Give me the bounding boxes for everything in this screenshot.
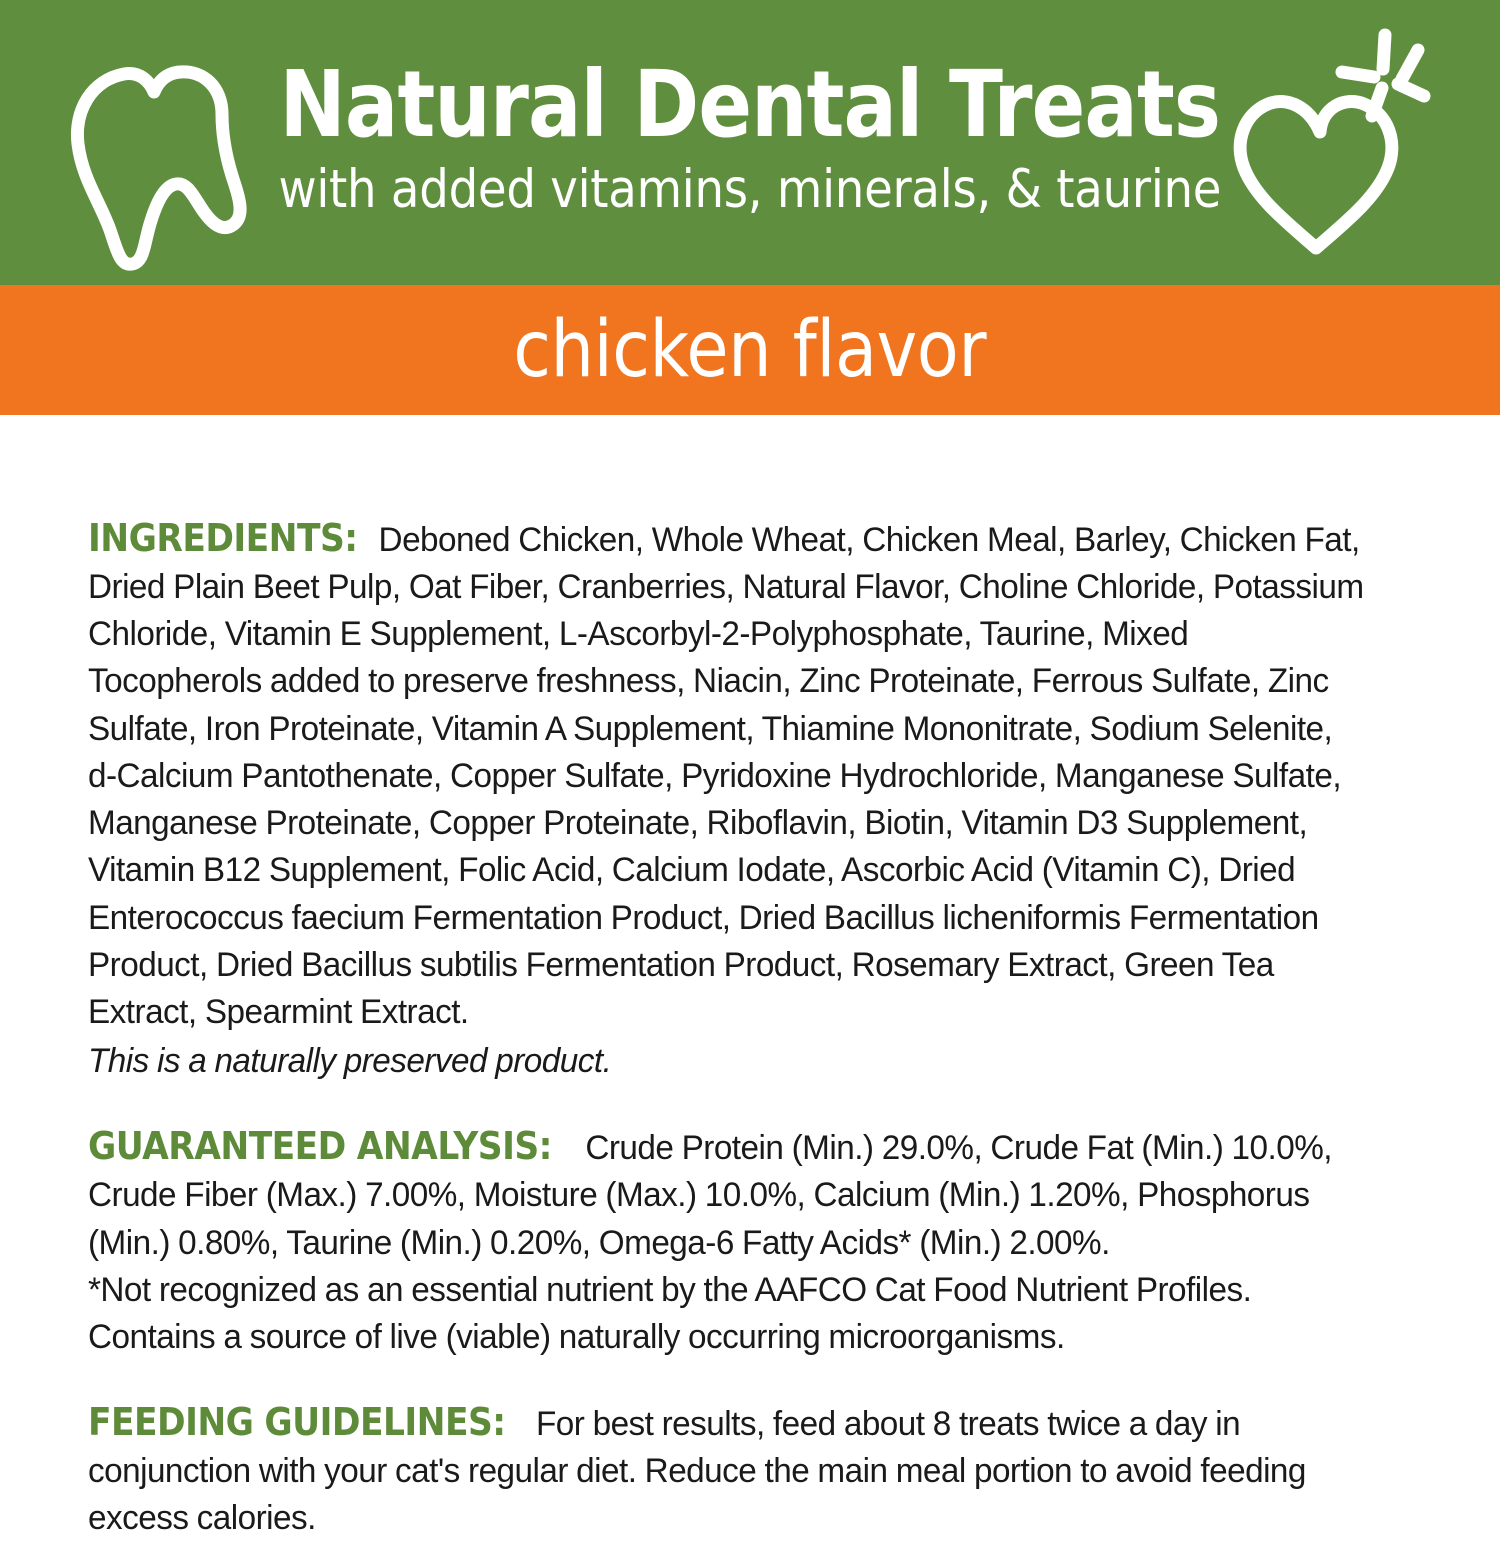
ingredients-paragraph: INGREDIENTS:Deboned Chicken, Whole Wheat…	[88, 512, 1366, 1086]
header-band: Natural Dental Treats with added vitamin…	[0, 0, 1500, 285]
label-content: INGREDIENTS:Deboned Chicken, Whole Wheat…	[0, 415, 1500, 1543]
feeding-guidelines-section: FEEDING GUIDELINES:For best results, fee…	[88, 1396, 1412, 1543]
heart-sparkle-icon	[1222, 22, 1472, 277]
flavor-band: chicken flavor	[0, 285, 1500, 415]
header-text-block: Natural Dental Treats with added vitamin…	[203, 58, 1297, 227]
page-title: Natural Dental Treats	[280, 58, 1221, 152]
preservation-note: This is a naturally preserved product.	[88, 1038, 1366, 1085]
feeding-guidelines-heading: FEEDING GUIDELINES:	[88, 1396, 505, 1448]
guaranteed-analysis-section: GUARANTEED ANALYSIS:Crude Protein (Min.)…	[88, 1120, 1412, 1361]
aafco-footnote: *Not recognized as an essential nutrient…	[88, 1267, 1366, 1314]
guaranteed-analysis-heading: GUARANTEED ANALYSIS:	[88, 1120, 552, 1172]
microorganism-note: Contains a source of live (viable) natur…	[88, 1314, 1366, 1361]
feeding-guidelines-paragraph: FEEDING GUIDELINES:For best results, fee…	[88, 1396, 1366, 1543]
guaranteed-analysis-paragraph: GUARANTEED ANALYSIS:Crude Protein (Min.)…	[88, 1120, 1366, 1361]
page-subtitle: with added vitamins, minerals, & taurine	[269, 158, 1231, 222]
tooth-icon	[62, 52, 272, 277]
ingredients-section: INGREDIENTS:Deboned Chicken, Whole Wheat…	[88, 512, 1412, 1086]
flavor-label: chicken flavor	[514, 311, 987, 389]
ingredients-text: Deboned Chicken, Whole Wheat, Chicken Me…	[88, 521, 1364, 1032]
ingredients-heading: INGREDIENTS:	[88, 512, 357, 564]
